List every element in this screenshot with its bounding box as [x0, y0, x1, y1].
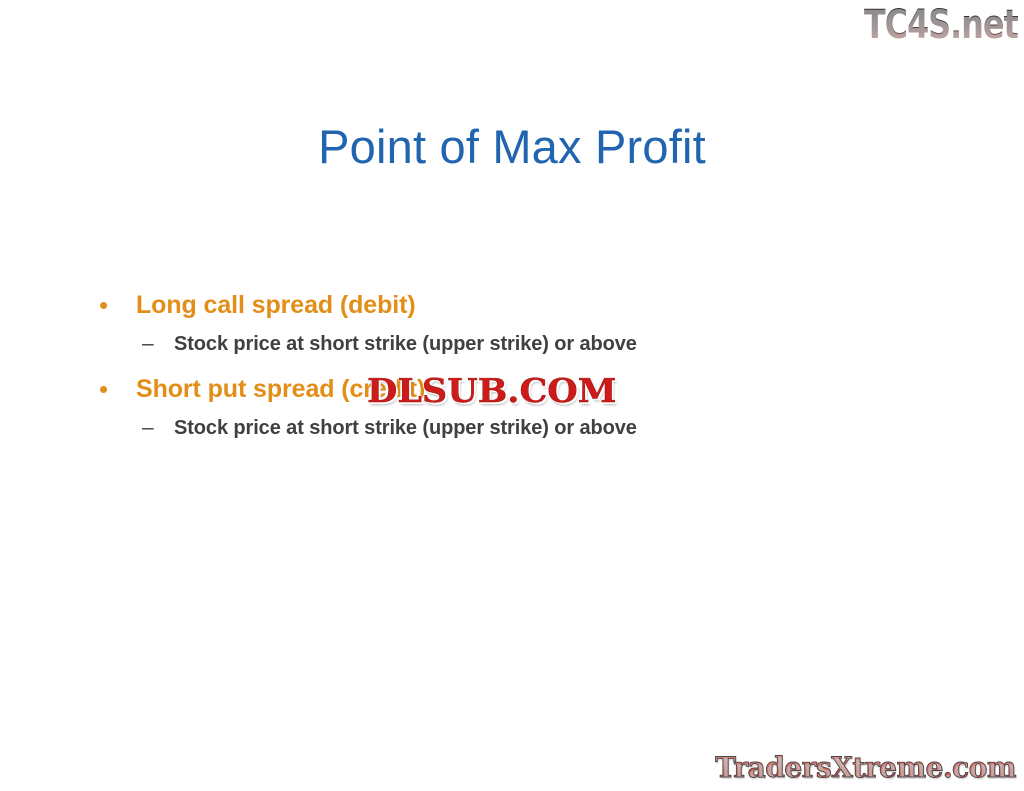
dlsub-watermark: DLSUB.COM [367, 372, 616, 410]
dash-icon: – [142, 414, 174, 442]
slide-canvas: TC4S.net Point of Max Profit • Long call… [0, 0, 1024, 791]
bullet-label: Long call spread (debit) [136, 288, 416, 322]
slide-body: • Long call spread (debit) – Stock price… [96, 288, 926, 452]
sub-bullet-label: Stock price at short strike (upper strik… [174, 330, 637, 358]
bullet-dot-icon: • [96, 288, 136, 322]
dash-icon: – [142, 330, 174, 358]
sub-bullet-label: Stock price at short strike (upper strik… [174, 414, 637, 442]
tradersxtreme-logo: TradersXtreme.com [715, 751, 1016, 785]
page-title: Point of Max Profit [0, 118, 1024, 176]
bullet-dot-icon: • [96, 372, 136, 406]
tc4s-logo: TC4S.net [864, 2, 1018, 48]
bullet-group: • Long call spread (debit) – Stock price… [96, 288, 926, 358]
sub-bullet-item: – Stock price at short strike (upper str… [96, 330, 926, 358]
bullet-item-long-call-spread: • Long call spread (debit) [96, 288, 926, 322]
sub-bullet-item: – Stock price at short strike (upper str… [96, 414, 926, 442]
